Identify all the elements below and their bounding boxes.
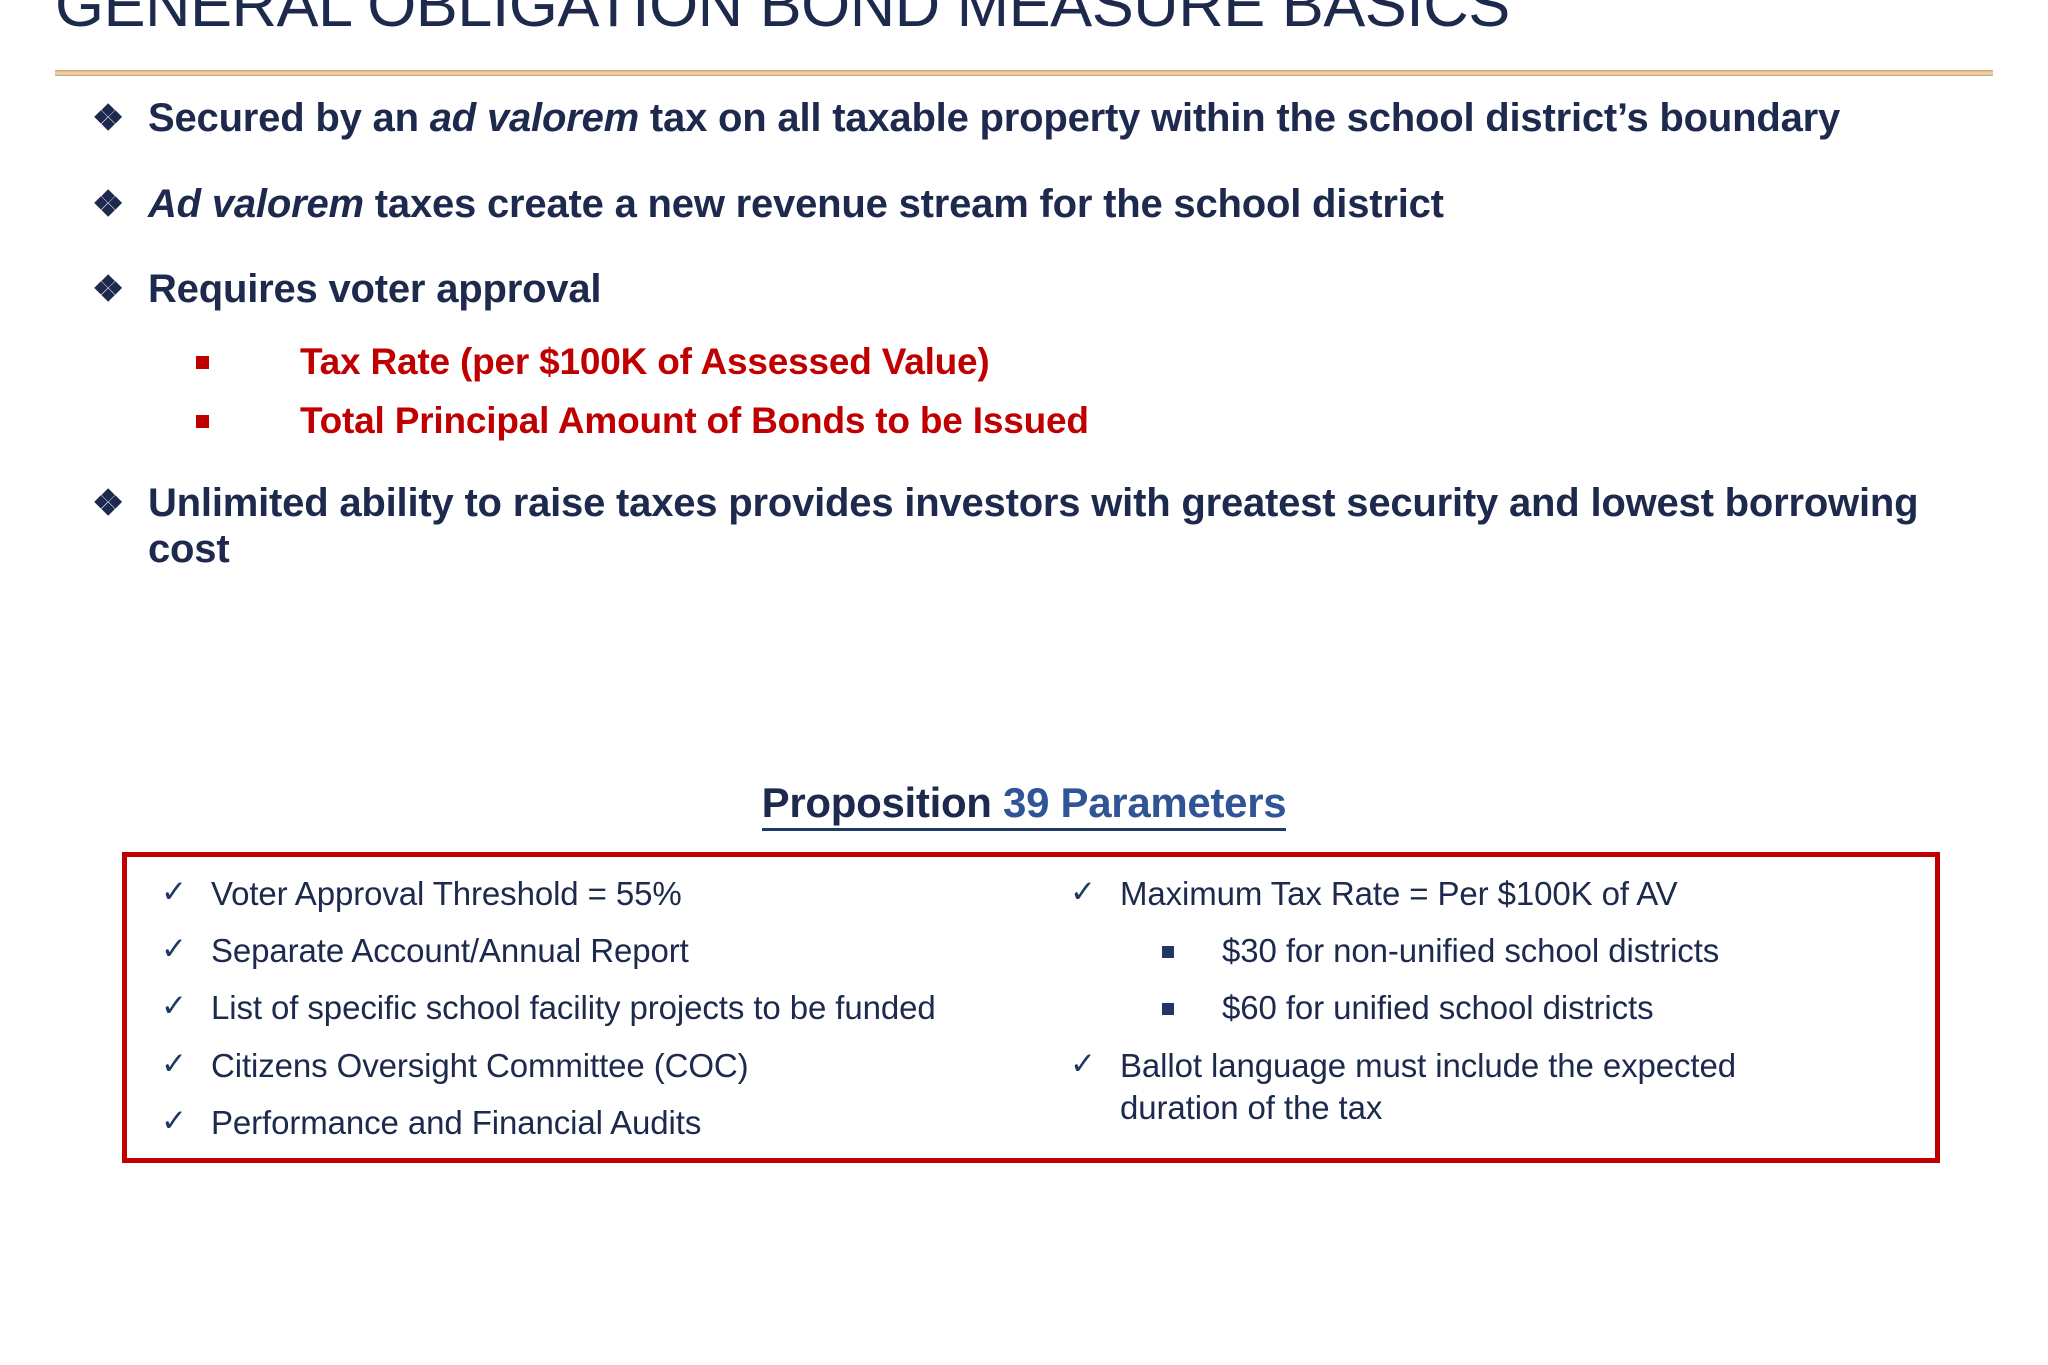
- check-icon: ✓: [161, 872, 187, 912]
- parameters-left-column: ✓Voter Approval Threshold = 55% ✓Separat…: [127, 857, 1026, 1158]
- bullet-text-part: taxes create a new revenue stream for th…: [364, 182, 1444, 226]
- list-item-label: Citizens Oversight Committee (COC): [211, 1047, 749, 1084]
- title-container: GENERAL OBLIGATION BOND MEASURE BASICS: [0, 0, 2048, 48]
- list-item-label: List of specific school facility project…: [211, 989, 936, 1026]
- diamond-bullet-icon: ❖: [92, 96, 124, 140]
- bullet-text-italic: Ad valorem: [148, 182, 364, 226]
- list-item: ✓Citizens Oversight Committee (COC): [153, 1045, 1026, 1087]
- list-item: ✓Voter Approval Threshold = 55%: [153, 873, 1026, 915]
- check-icon: ✓: [161, 1101, 187, 1141]
- list-item: ✓Ballot language must include the expect…: [1062, 1045, 1935, 1129]
- diamond-bullet-icon: ❖: [92, 481, 124, 525]
- bullet-text-part: Secured by an: [148, 96, 430, 140]
- list-item: ✓List of specific school facility projec…: [153, 987, 1026, 1029]
- proposition-heading: Proposition 39 Parameters: [0, 779, 2048, 827]
- check-icon: ✓: [1070, 1044, 1096, 1084]
- bullet-text-italic: ad valorem: [430, 96, 639, 140]
- bullet-text-part: tax on all taxable property within the s…: [639, 96, 1840, 140]
- list-item: ✓Maximum Tax Rate = Per $100K of AV: [1062, 873, 1935, 915]
- square-bullet-icon: [196, 415, 209, 428]
- parameters-right-column: ✓Maximum Tax Rate = Per $100K of AV $30 …: [1026, 857, 1935, 1158]
- sub-list-item: $30 for non-unified school districts: [1062, 930, 1935, 972]
- sub-list-item: $60 for unified school districts: [1062, 987, 1935, 1029]
- page-title: GENERAL OBLIGATION BOND MEASURE BASICS: [55, 0, 1995, 38]
- bullet-item: ❖Secured by an ad valorem tax on all tax…: [0, 96, 2048, 142]
- sub-bullet-text: Tax Rate (per $100K of Assessed Value): [300, 341, 990, 382]
- list-item-label: Separate Account/Annual Report: [211, 932, 689, 969]
- bullet-item: ❖Requires voter approval: [0, 267, 2048, 313]
- list-item-label: Maximum Tax Rate = Per $100K of AV: [1120, 875, 1678, 912]
- sub-bullet-item: Total Principal Amount of Bonds to be Is…: [0, 399, 2048, 443]
- title-divider-rule: [55, 70, 1993, 76]
- square-bullet-icon: [196, 356, 209, 369]
- bullet-text-part: Requires voter approval: [148, 267, 601, 311]
- list-item-label: Ballot language must include the expecte…: [1120, 1047, 1736, 1126]
- bullet-text-part: Unlimited ability to raise taxes provide…: [148, 481, 1918, 571]
- check-icon: ✓: [161, 986, 187, 1026]
- body-content: ❖Secured by an ad valorem tax on all tax…: [0, 96, 2048, 590]
- diamond-bullet-icon: ❖: [92, 267, 124, 311]
- sub-bullet-item: Tax Rate (per $100K of Assessed Value): [0, 340, 2048, 384]
- proposition-heading-part2: 39 Parameters: [1003, 779, 1286, 826]
- check-icon: ✓: [161, 929, 187, 969]
- slide: GENERAL OBLIGATION BOND MEASURE BASICS ❖…: [0, 0, 2048, 1365]
- bullet-item: ❖Unlimited ability to raise taxes provid…: [0, 481, 2048, 572]
- diamond-bullet-icon: ❖: [92, 182, 124, 226]
- sub-list-item-label: $60 for unified school districts: [1222, 989, 1654, 1026]
- square-bullet-icon: [1162, 946, 1174, 958]
- check-icon: ✓: [1070, 872, 1096, 912]
- proposition-parameters-box: ✓Voter Approval Threshold = 55% ✓Separat…: [122, 852, 1940, 1163]
- list-item-label: Performance and Financial Audits: [211, 1104, 701, 1141]
- check-icon: ✓: [161, 1044, 187, 1084]
- list-item: ✓Performance and Financial Audits: [153, 1102, 1026, 1144]
- list-item-label: Voter Approval Threshold = 55%: [211, 875, 682, 912]
- list-item: ✓Separate Account/Annual Report: [153, 930, 1026, 972]
- sub-list-item-label: $30 for non-unified school districts: [1222, 932, 1719, 969]
- sub-bullet-text: Total Principal Amount of Bonds to be Is…: [300, 400, 1089, 441]
- square-bullet-icon: [1162, 1003, 1174, 1015]
- proposition-heading-part1: Proposition: [762, 779, 1003, 826]
- bullet-item: ❖Ad valorem taxes create a new revenue s…: [0, 182, 2048, 228]
